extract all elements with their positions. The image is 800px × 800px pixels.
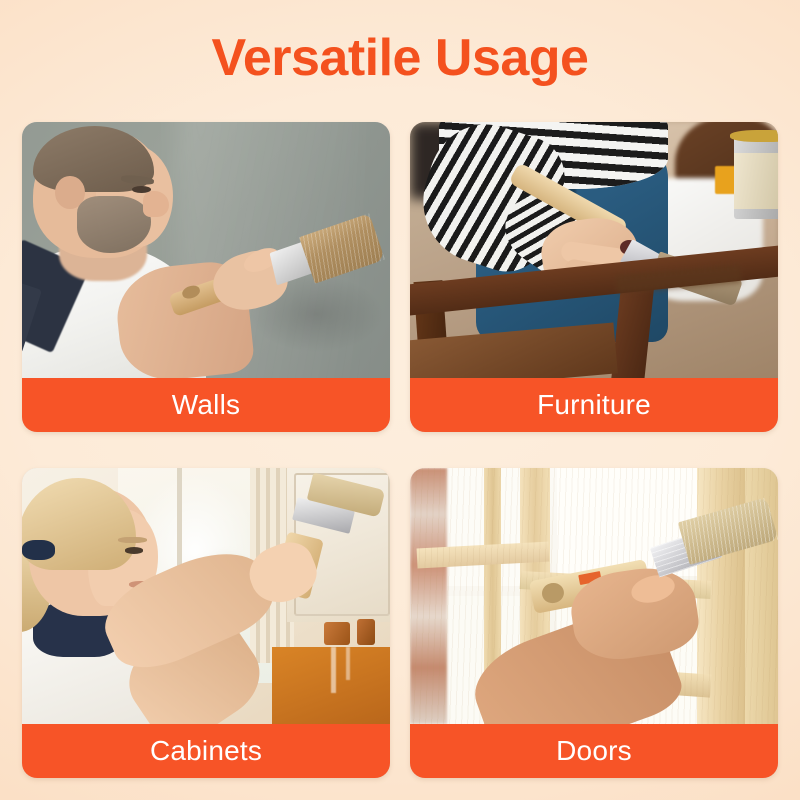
walls-label-bar: Walls: [22, 378, 390, 432]
cabinets-photo: [22, 468, 390, 724]
walls-photo: [22, 122, 390, 378]
furniture-photo: [410, 122, 778, 378]
page-title: Versatile Usage: [0, 28, 800, 88]
doors-label-bar: Doors: [410, 724, 778, 778]
furniture-label: Furniture: [537, 391, 651, 419]
usage-card-doors[interactable]: Doors: [410, 468, 778, 778]
versatile-usage-infographic: Versatile Usage: [0, 0, 800, 800]
usage-card-walls[interactable]: Walls: [22, 122, 390, 432]
usage-card-furniture[interactable]: Furniture: [410, 122, 778, 432]
cabinets-label-bar: Cabinets: [22, 724, 390, 778]
usage-card-grid: Walls: [22, 122, 778, 778]
walls-label: Walls: [172, 391, 240, 419]
cabinets-label: Cabinets: [150, 737, 262, 765]
furniture-label-bar: Furniture: [410, 378, 778, 432]
usage-card-cabinets[interactable]: Cabinets: [22, 468, 390, 778]
doors-label: Doors: [556, 737, 632, 765]
doors-photo: [410, 468, 778, 724]
